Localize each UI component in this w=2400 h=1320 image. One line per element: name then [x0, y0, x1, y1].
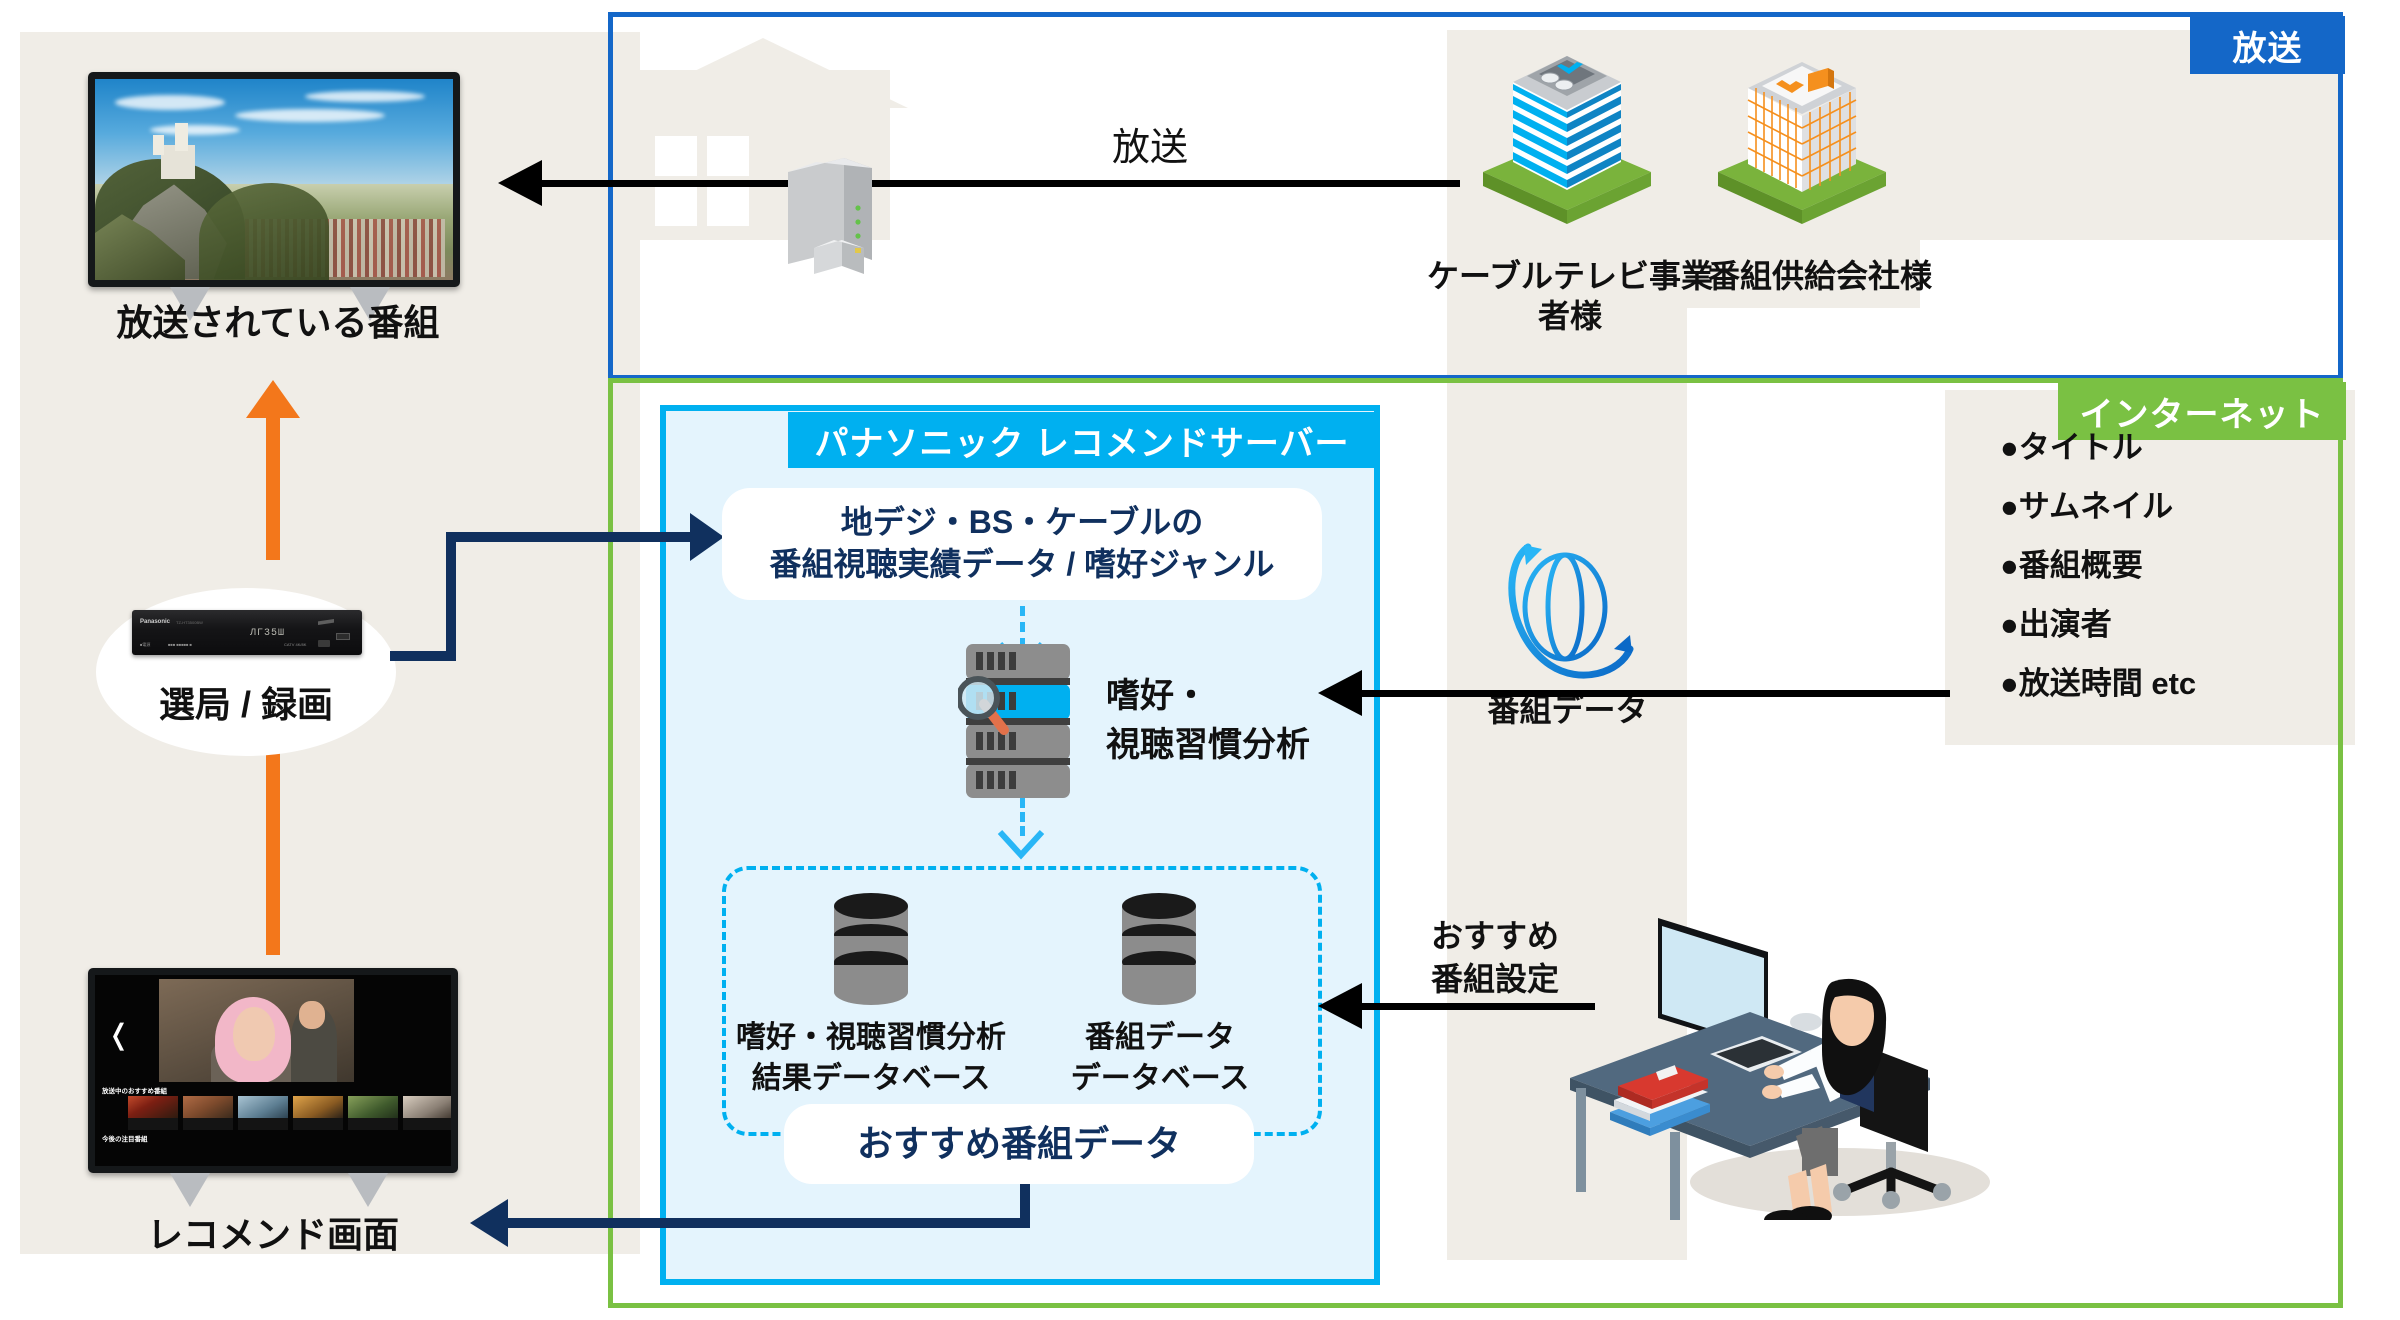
- server-flow-arrow-2: [996, 828, 1046, 862]
- server-input-line1: 地デジ・BS・ケーブルの: [841, 502, 1204, 544]
- list-item: ●番組概要: [2000, 550, 2196, 581]
- set-top-box: [782, 140, 882, 275]
- server-output-label: おすすめ番組データ: [857, 1121, 1181, 1168]
- broadcast-arrow-head-left: [498, 160, 542, 206]
- tv-broadcast: [88, 72, 460, 287]
- db-program-label: 番組データ データベース: [1010, 1018, 1310, 1099]
- diagram-canvas: 放送 インターネット パナソニック レコメンドサーバー: [0, 0, 2400, 1320]
- analysis-label: 嗜好・ 視聴習慣分析: [1106, 672, 1426, 771]
- list-item[interactable]: [403, 1096, 451, 1130]
- tv-bezel: [88, 72, 460, 287]
- settings-label-line2: 番組設定: [1370, 958, 1620, 1001]
- internet-tab-label: インターネット: [2080, 387, 2325, 436]
- analysis-label-line2: 視聴習慣分析: [1106, 721, 1426, 770]
- navy-arrow-head-right: [690, 513, 724, 561]
- db-program-icon: [1116, 890, 1202, 1010]
- recommend-thumb-row: [128, 1096, 451, 1130]
- tv-screen: [95, 79, 453, 280]
- cable-operator-building-icon: [1465, 40, 1670, 240]
- recommend-future-heading: 今後の注目番組: [102, 1133, 148, 1143]
- list-item: ●放送時間 etc: [2000, 668, 2196, 699]
- landscape-image: [95, 79, 453, 280]
- navy-out-arrow-head-left: [470, 1199, 508, 1247]
- db-program-line2: データベース: [1010, 1059, 1310, 1100]
- tv-recommend-foot-left: [170, 1173, 210, 1207]
- tv-recommend-foot-right: [348, 1173, 388, 1207]
- db-program-line1: 番組データ: [1010, 1018, 1310, 1059]
- tv-recommend-screen: ❬ 放送中のおすすめ番組: [95, 975, 451, 1166]
- recommend-server-title-bar: パナソニック レコメンドサーバー: [788, 412, 1376, 468]
- settings-arrow-head-left: [1318, 983, 1362, 1029]
- recommend-hero-thumbnail[interactable]: [159, 979, 354, 1082]
- list-item[interactable]: [238, 1096, 288, 1130]
- program-data-arrow-head-left: [1318, 670, 1362, 716]
- recorder-label: 選局 / 録画: [96, 682, 396, 727]
- orange-arrow-head-up: [246, 380, 300, 418]
- program-supplier-label: 番組供給会社様: [1670, 256, 1970, 296]
- recommend-back-arrow[interactable]: ❬: [107, 1021, 130, 1049]
- list-item[interactable]: [293, 1096, 343, 1130]
- server-input-line2: 番組視聴実績データ / 嗜好ジャンル: [769, 544, 1274, 586]
- server-title-label: パナソニック レコメンドサーバー: [814, 416, 1349, 465]
- navy-arrow-seg-v: [446, 532, 456, 660]
- tv-recommend: ❬ 放送中のおすすめ番組: [88, 968, 458, 1173]
- broadcast-arrow-line: [540, 180, 1460, 187]
- set-top-box-icon: [782, 140, 882, 275]
- list-item[interactable]: [183, 1096, 233, 1130]
- recorder-device: Panasonic TZ-HT3500BW ЛГ35Ш ■電源 ■■■ ■■■■…: [132, 610, 362, 655]
- broadcast-flow-label: 放送: [1000, 125, 1300, 173]
- globe-icon: [1490, 525, 1640, 685]
- program-supplier-building-icon: [1700, 40, 1905, 240]
- settings-label-line1: おすすめ: [1370, 915, 1620, 958]
- tv-recommend-bezel: ❬ 放送中のおすすめ番組: [88, 968, 458, 1173]
- server-input-pill: 地デジ・BS・ケーブルの 番組視聴実績データ / 嗜好ジャンル: [722, 488, 1322, 600]
- recommend-ui: ❬ 放送中のおすすめ番組: [95, 975, 451, 1166]
- list-item: ●出演者: [2000, 609, 2196, 640]
- list-item: ●サムネイル: [2000, 491, 2196, 522]
- orange-arrow-shaft-top: [266, 400, 280, 560]
- settings-label: おすすめ 番組設定: [1370, 915, 1620, 1001]
- navy-out-arrow-h: [508, 1218, 1026, 1228]
- settings-arrow-line: [1360, 1003, 1595, 1010]
- program-data-arrow-line: [1360, 690, 1950, 697]
- broadcast-section-tab: 放送: [2190, 16, 2345, 74]
- list-item[interactable]: [128, 1096, 178, 1130]
- broadcast-tab-label: 放送: [2233, 21, 2303, 70]
- list-item[interactable]: [348, 1096, 398, 1130]
- db-preference-icon: [828, 890, 914, 1010]
- tv-broadcast-label: 放送されている番組: [28, 300, 528, 345]
- server-rack-icon: [958, 640, 1078, 800]
- navy-arrow-seg-h2: [446, 532, 700, 542]
- recommend-now-heading: 放送中のおすすめ番組: [102, 1085, 167, 1095]
- db-preference-line2: 結果データベース: [706, 1059, 1036, 1100]
- db-preference-label: 嗜好・視聴習慣分析 結果データベース: [706, 1018, 1036, 1099]
- tv-recommend-label: レコメンド画面: [58, 1212, 488, 1257]
- program-metadata-list: ●タイトル ●サムネイル ●番組概要 ●出演者 ●放送時間 etc: [2000, 432, 2196, 727]
- db-preference-line1: 嗜好・視聴習慣分析: [706, 1018, 1036, 1059]
- list-item: ●タイトル: [2000, 432, 2196, 463]
- server-output-pill: おすすめ番組データ: [784, 1104, 1254, 1184]
